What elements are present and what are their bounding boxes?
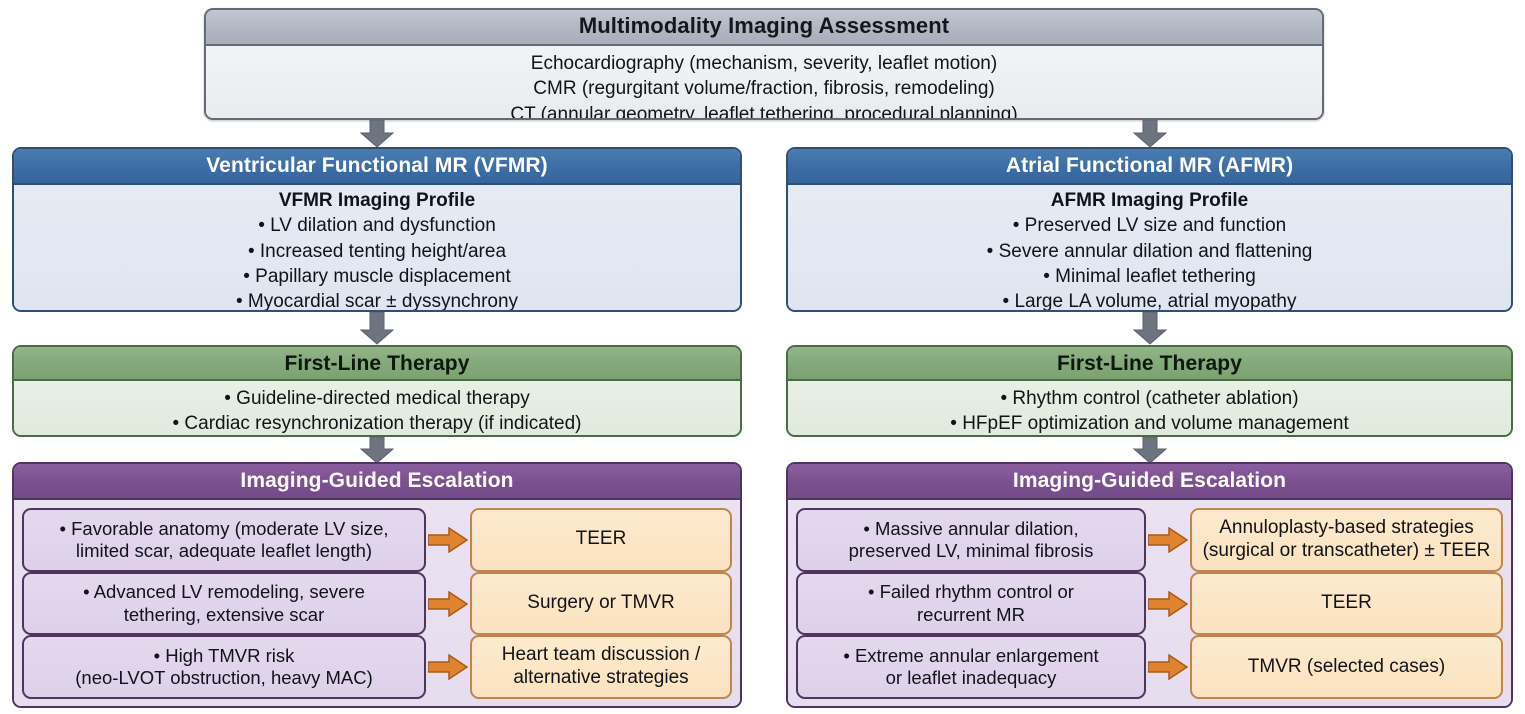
afmr-profile-item: • Large LA volume, atrial myopathy — [788, 289, 1511, 312]
vfmr-body: VFMR Imaging Profile • LV dilation and d… — [14, 185, 740, 312]
escalation-criteria: • High TMVR risk (neo-LVOT obstruction, … — [22, 635, 426, 699]
action-line: TEER — [1321, 592, 1372, 613]
escalation-criteria: • Advanced LV remodeling, severe tetheri… — [22, 572, 426, 636]
action-line: Annuloplasty-based strategies — [1219, 517, 1474, 538]
escalation-action: TEER — [1190, 572, 1503, 636]
criteria-line: or leaflet inadequacy — [886, 667, 1057, 688]
escalation-action: TMVR (selected cases) — [1190, 635, 1503, 699]
assessment-line-ct: CT (annular geometry, leaflet tethering,… — [206, 102, 1322, 120]
afmr-first-line-title: First-Line Therapy — [788, 347, 1511, 381]
escalation-row: • Advanced LV remodeling, severe tetheri… — [22, 572, 732, 636]
afmr-first-line-therapy-card: First-Line Therapy • Rhythm control (cat… — [786, 345, 1513, 437]
connector-vfmr-first-line-to-escalation — [359, 437, 395, 464]
arrow-right-icon — [426, 654, 470, 680]
arrow-right-icon — [426, 527, 470, 553]
criteria-line: preserved LV, minimal fibrosis — [849, 540, 1094, 561]
escalation-criteria: • Failed rhythm control or recurrent MR — [796, 572, 1146, 636]
assessment-body: Echocardiography (mechanism, severity, l… — [206, 46, 1322, 118]
criteria-line: • Massive annular dilation, — [863, 518, 1078, 539]
arrow-right-icon — [426, 591, 470, 617]
escalation-row: • Failed rhythm control or recurrent MR … — [796, 572, 1503, 636]
criteria-line: (neo-LVOT obstruction, heavy MAC) — [75, 667, 373, 688]
escalation-criteria: • Favorable anatomy (moderate LV size, l… — [22, 508, 426, 572]
vfmr-first-line-item: • Cardiac resynchronization therapy (if … — [14, 411, 740, 436]
action-line: TEER — [576, 528, 627, 549]
afmr-title: Atrial Functional MR (AFMR) — [788, 149, 1511, 185]
vfmr-first-line-body: • Guideline-directed medical therapy • C… — [14, 381, 740, 437]
criteria-line: tethering, extensive scar — [124, 604, 325, 625]
connector-afmr-first-line-to-escalation — [1132, 437, 1168, 464]
escalation-criteria: • Extreme annular enlargement or leaflet… — [796, 635, 1146, 699]
criteria-line: • Failed rhythm control or — [868, 581, 1074, 602]
arrow-right-icon — [1146, 591, 1190, 617]
escalation-criteria: • Massive annular dilation, preserved LV… — [796, 508, 1146, 572]
vfmr-profile-item: • LV dilation and dysfunction — [14, 213, 740, 238]
afmr-escalation-body: • Massive annular dilation, preserved LV… — [788, 500, 1511, 706]
vfmr-escalation-body: • Favorable anatomy (moderate LV size, l… — [14, 500, 740, 706]
arrow-right-icon — [1146, 527, 1190, 553]
action-line: TMVR (selected cases) — [1248, 656, 1445, 677]
escalation-action: Surgery or TMVR — [470, 572, 732, 636]
vfmr-escalation-title: Imaging-Guided Escalation — [14, 464, 740, 500]
afmr-pathway-card: Atrial Functional MR (AFMR) AFMR Imaging… — [786, 147, 1513, 312]
connector-assessment-to-vfmr — [359, 120, 395, 148]
afmr-profile-item: • Minimal leaflet tethering — [788, 264, 1511, 289]
vfmr-escalation-card: Imaging-Guided Escalation • Favorable an… — [12, 462, 742, 708]
afmr-first-line-item: • Rhythm control (catheter ablation) — [788, 386, 1511, 411]
vfmr-title: Ventricular Functional MR (VFMR) — [14, 149, 740, 185]
assessment-title: Multimodality Imaging Assessment — [206, 10, 1322, 46]
afmr-escalation-title: Imaging-Guided Escalation — [788, 464, 1511, 500]
afmr-profile-title: AFMR Imaging Profile — [788, 189, 1511, 213]
action-line: (surgical or transcatheter) ± TEER — [1203, 540, 1491, 561]
assessment-line-echo: Echocardiography (mechanism, severity, l… — [206, 51, 1322, 76]
connector-afmr-to-first-line — [1132, 312, 1168, 345]
flowchart-canvas: Multimodality Imaging Assessment Echocar… — [0, 0, 1525, 714]
escalation-row: • Favorable anatomy (moderate LV size, l… — [22, 508, 732, 572]
vfmr-profile-item: • Myocardial scar ± dyssynchrony — [14, 289, 740, 312]
escalation-action: Annuloplasty-based strategies (surgical … — [1190, 508, 1503, 572]
criteria-line: recurrent MR — [917, 604, 1025, 625]
afmr-first-line-body: • Rhythm control (catheter ablation) • H… — [788, 381, 1511, 437]
vfmr-first-line-item: • Guideline-directed medical therapy — [14, 386, 740, 411]
escalation-row: • Extreme annular enlargement or leaflet… — [796, 635, 1503, 699]
multimodality-imaging-assessment-card: Multimodality Imaging Assessment Echocar… — [204, 8, 1324, 120]
action-line: Heart team discussion / — [502, 644, 701, 665]
vfmr-first-line-therapy-card: First-Line Therapy • Guideline-directed … — [12, 345, 742, 437]
vfmr-pathway-card: Ventricular Functional MR (VFMR) VFMR Im… — [12, 147, 742, 312]
escalation-row: • Massive annular dilation, preserved LV… — [796, 508, 1503, 572]
vfmr-profile-item: • Papillary muscle displacement — [14, 264, 740, 289]
arrow-right-icon — [1146, 654, 1190, 680]
action-line: alternative strategies — [513, 667, 688, 688]
criteria-line: • Extreme annular enlargement — [843, 645, 1098, 666]
connector-assessment-to-afmr — [1132, 120, 1168, 148]
escalation-action: Heart team discussion / alternative stra… — [470, 635, 732, 699]
vfmr-first-line-title: First-Line Therapy — [14, 347, 740, 381]
afmr-first-line-item: • HFpEF optimization and volume manageme… — [788, 411, 1511, 436]
afmr-profile-item: • Severe annular dilation and flattening — [788, 239, 1511, 264]
escalation-row: • High TMVR risk (neo-LVOT obstruction, … — [22, 635, 732, 699]
afmr-escalation-card: Imaging-Guided Escalation • Massive annu… — [786, 462, 1513, 708]
afmr-profile-item: • Preserved LV size and function — [788, 213, 1511, 238]
action-line: Surgery or TMVR — [527, 592, 674, 613]
connector-vfmr-to-first-line — [359, 312, 395, 345]
assessment-line-cmr: CMR (regurgitant volume/fraction, fibros… — [206, 76, 1322, 101]
criteria-line: limited scar, adequate leaflet length) — [76, 540, 372, 561]
afmr-body: AFMR Imaging Profile • Preserved LV size… — [788, 185, 1511, 312]
vfmr-profile-title: VFMR Imaging Profile — [14, 189, 740, 213]
vfmr-profile-item: • Increased tenting height/area — [14, 239, 740, 264]
criteria-line: • Advanced LV remodeling, severe — [83, 581, 365, 602]
escalation-action: TEER — [470, 508, 732, 572]
criteria-line: • Favorable anatomy (moderate LV size, — [59, 518, 388, 539]
criteria-line: • High TMVR risk — [154, 645, 295, 666]
